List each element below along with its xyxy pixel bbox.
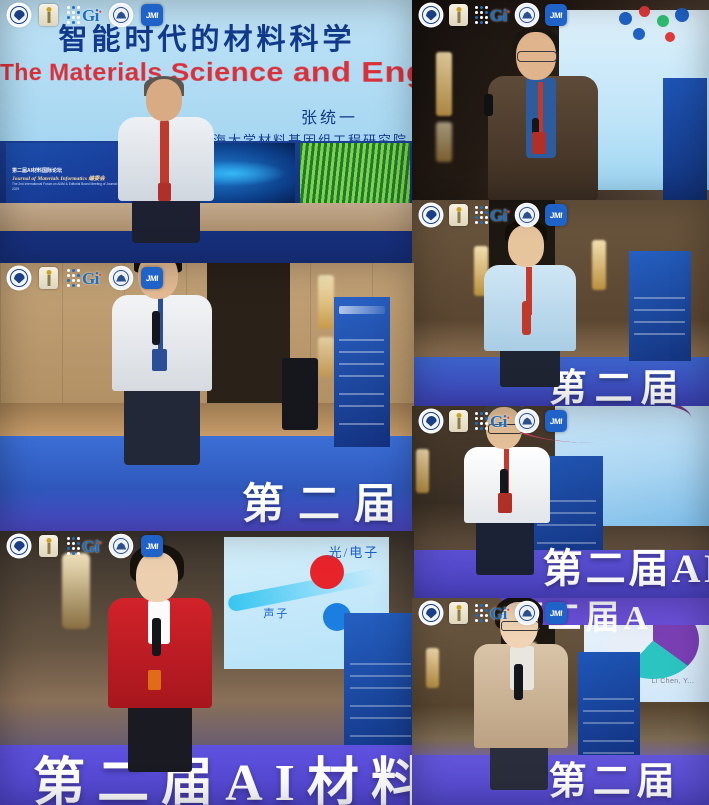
jmi-logo: JMI [545, 4, 567, 26]
loudspeaker [282, 358, 318, 430]
photo-keynote-opening[interactable]: 智能时代的材料科学 The Materials Science and Engi… [0, 0, 414, 265]
speaker-badge [158, 183, 171, 201]
tower-emblem-logo [449, 602, 468, 624]
jmi-logo: JMI [141, 267, 163, 289]
mgi-dot-matrix [67, 6, 80, 24]
mgi-logo: Gi• [475, 410, 509, 432]
logo-bar: Gi• JMI [8, 535, 163, 557]
university-crest-logo [420, 204, 442, 226]
screen-graphic-green [300, 143, 410, 203]
wall-lamp [592, 240, 606, 290]
mgi-wordmark: Gi• [490, 7, 509, 24]
wall-lamp [436, 122, 452, 162]
stage-chinese-text: 第二届 [242, 470, 410, 531]
mgi-logo: Gi• [475, 204, 509, 226]
university-crest-logo [420, 4, 442, 26]
photo-speaker-beige-coat[interactable]: Li Chen, Y... 第二届A 第二届 [412, 598, 709, 805]
photo-speaker-light-blue-shirt[interactable]: 第二届 Gi• JMI [412, 200, 709, 406]
speaker-figure [108, 552, 212, 772]
speaker-badge [152, 349, 167, 371]
university-seal-logo [516, 204, 538, 226]
jmi-logo: JMI [545, 410, 567, 432]
podium-title-cn: 第二届AI材料国际论坛 [12, 167, 62, 174]
mgi-logo: Gi• [67, 267, 101, 289]
podium-panel [663, 78, 707, 200]
microphone [522, 301, 531, 335]
speaker-badge [498, 493, 512, 513]
mgi-dot-matrix [67, 537, 80, 555]
mgi-logo: Gi• [67, 535, 101, 557]
jmi-logo: JMI [141, 535, 163, 557]
logo-bar: Gi• JMI [420, 204, 567, 226]
podium-panel [629, 251, 691, 361]
logo-bar: Gi• JMI [8, 267, 163, 289]
logo-bar: Gi• JMI [420, 4, 567, 26]
tower-emblem-logo [39, 4, 58, 26]
speaker-figure [118, 79, 214, 231]
microphone [514, 664, 523, 700]
speaker-badge [148, 670, 161, 690]
speaker-head [508, 225, 544, 267]
university-crest-logo [8, 4, 30, 26]
tower-emblem-logo [449, 4, 468, 26]
banner-speaker-name: 张统一 [301, 104, 358, 128]
speaker-lanyard [160, 119, 169, 189]
wall-lamp [416, 449, 429, 493]
mgi-logo: Gi• [475, 4, 509, 26]
photo-speaker-red-blazer[interactable]: 光/电子 声子 第二届AI材料 [0, 531, 414, 805]
podium-title-en: Journal of Materials Informatics 编委会 [12, 174, 105, 182]
microphone [152, 311, 160, 345]
mgi-wordmark: Gi• [82, 7, 101, 24]
screen-credit-text: Li Chen, Y... [652, 678, 695, 685]
photo-speaker-white-polo[interactable]: 第二届AI Gi• [412, 406, 709, 600]
stage-chinese-text: 第二届AI材料 [33, 740, 414, 805]
mgi-dot-matrix [475, 206, 488, 224]
mgi-wordmark: Gi• [490, 207, 509, 224]
wall-lamp [436, 52, 452, 116]
jmi-logo: JMI [545, 602, 567, 624]
logo-bar: Gi• JMI [420, 602, 567, 624]
speaker-badge [532, 132, 546, 154]
university-seal-logo [110, 267, 132, 289]
university-crest-logo [420, 602, 442, 624]
mgi-logo: Gi• [67, 4, 101, 26]
chandelier [62, 553, 90, 629]
eyeglasses [517, 51, 557, 62]
mgi-dot-matrix [67, 269, 80, 287]
logo-bar: Gi• JMI [8, 4, 163, 26]
screen-beam-graphic [227, 567, 380, 612]
university-seal-logo [110, 535, 132, 557]
university-crest-logo [8, 535, 30, 557]
university-seal-logo [110, 4, 132, 26]
speaker-trousers [124, 387, 200, 465]
podium-panel [334, 297, 390, 447]
speaker-trousers [132, 197, 200, 243]
mgi-logo: Gi• [475, 602, 509, 624]
speaker-trousers [500, 347, 560, 387]
tower-emblem-logo [449, 204, 468, 226]
speaker-head [146, 79, 182, 121]
bottom-ribbon [0, 231, 414, 265]
tower-emblem-logo [39, 535, 58, 557]
speaker-figure [488, 32, 598, 200]
banner-headline-block: 智能时代的材料科学 The Materials Science and Engi… [0, 16, 414, 86]
photo-collage: 智能时代的材料科学 The Materials Science and Engi… [0, 0, 709, 805]
mgi-dot-matrix [475, 6, 488, 24]
microphone [152, 618, 161, 656]
stage-chinese-text: 第二届AI [543, 536, 709, 594]
screen-label-2: 声子 [263, 605, 289, 621]
wall-lamp [426, 648, 439, 688]
stage-chinese-text: 第二届 [549, 750, 681, 805]
photo-speaker-white-shirt-hall[interactable]: 第二届 Gi• JMI [0, 263, 414, 533]
jmi-logo: JMI [141, 4, 163, 26]
logo-bar: Gi• JMI [420, 410, 567, 432]
university-crest-logo [420, 410, 442, 432]
mgi-dot-matrix [475, 604, 488, 622]
screen-label-1: 光/电子 [329, 542, 380, 561]
speaker-figure [112, 263, 212, 463]
mgi-wordmark: Gi• [82, 538, 101, 555]
tower-emblem-logo [39, 267, 58, 289]
speaker-head [136, 552, 178, 602]
speaker-figure [484, 225, 576, 385]
wall-lamp [318, 275, 334, 329]
university-crest-logo [8, 267, 30, 289]
mgi-wordmark: Gi• [490, 413, 509, 430]
molecule-graphic [609, 6, 701, 54]
presenter-clicker [484, 94, 493, 116]
speaker-figure [474, 602, 568, 788]
wall-lamp [318, 337, 334, 377]
mgi-dot-matrix [475, 412, 488, 430]
speaker-skirt [490, 744, 548, 790]
university-seal-logo [516, 4, 538, 26]
speaker-skirt [128, 704, 192, 772]
jmi-logo: JMI [545, 204, 567, 226]
speaker-trousers [476, 519, 534, 575]
mgi-wordmark: Gi• [490, 605, 509, 622]
photo-speaker-brown-jacket[interactable]: Gi• JMI [412, 0, 709, 200]
mgi-wordmark: Gi• [82, 270, 101, 287]
university-seal-logo [516, 410, 538, 432]
tower-emblem-logo [449, 410, 468, 432]
university-seal-logo [516, 602, 538, 624]
